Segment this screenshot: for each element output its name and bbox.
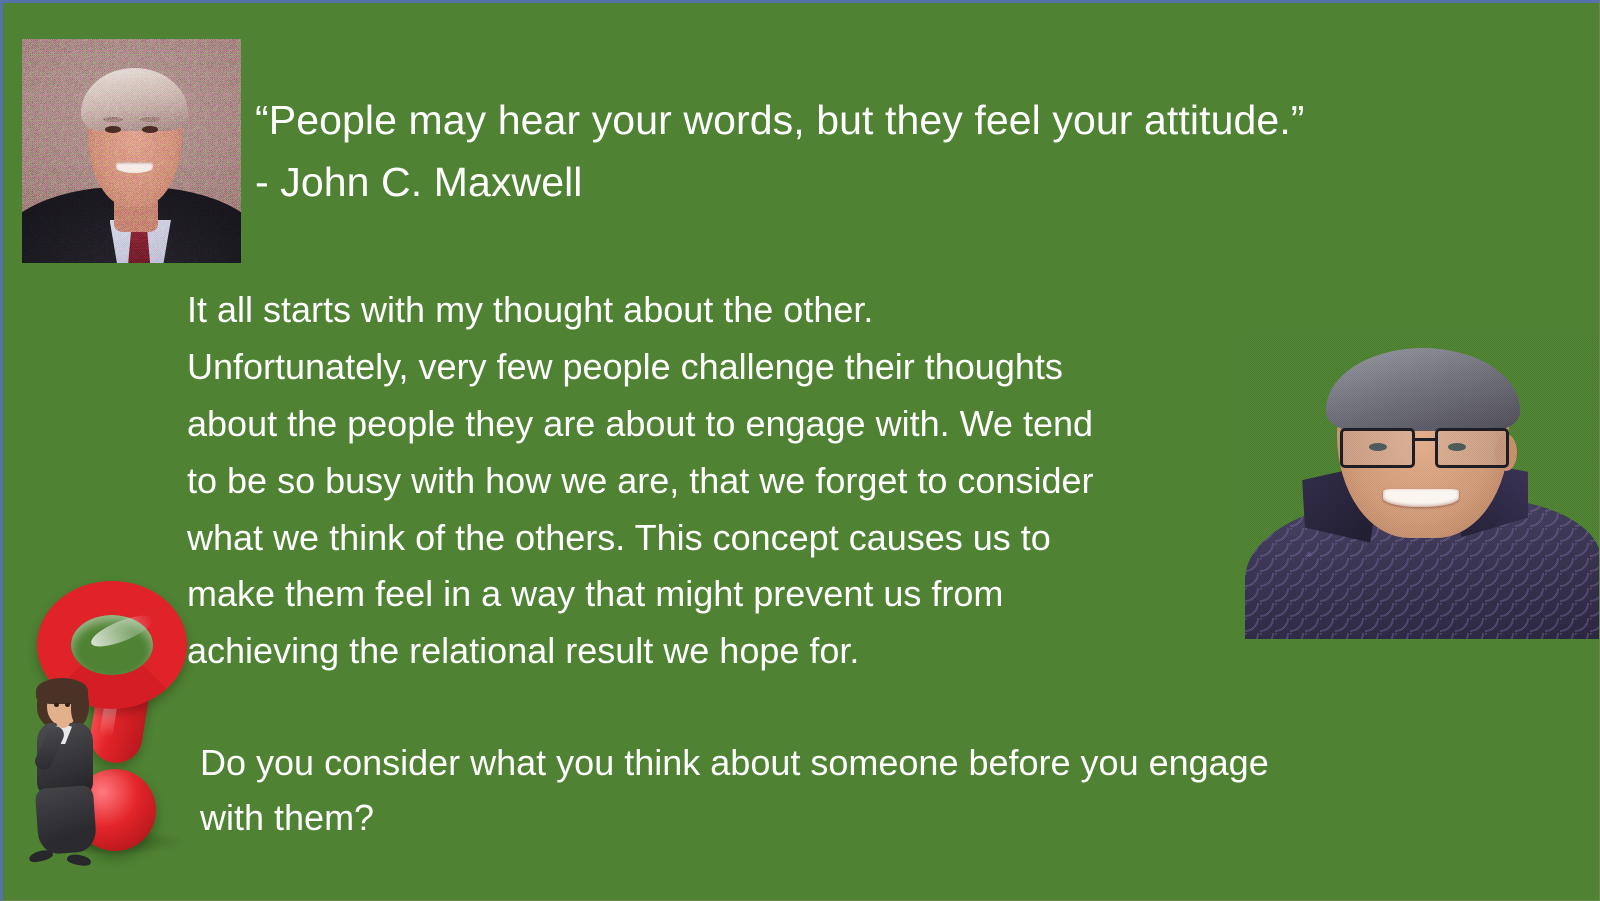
closing-question-block: Do you consider what you think about som…	[200, 736, 1500, 845]
body-text-line-2: Unfortunately, very few people challenge…	[187, 339, 1267, 396]
body-text-line-5: what we think of the others. This concep…	[187, 510, 1267, 567]
woman-shoe-left	[28, 848, 54, 864]
thinking-woman-figure	[23, 679, 119, 867]
quote-text-line-1: “People may hear your words, but they fe…	[255, 89, 1535, 151]
woman-shoe-right	[66, 853, 91, 867]
question-mark-graphic	[21, 573, 201, 868]
quote-attribution-line: - John C. Maxwell	[255, 151, 1535, 213]
speaker-headshot-image	[1243, 333, 1600, 639]
body-text-line-7: achieving the relational result we hope …	[187, 623, 1267, 680]
quote-block: “People may hear your words, but they fe…	[255, 89, 1535, 214]
body-text-line-6: make them feel in a way that might preve…	[187, 566, 1267, 623]
slide-canvas: “People may hear your words, but they fe…	[0, 0, 1600, 901]
question-text-line-2: with them?	[200, 791, 1500, 846]
portrait-photo-grain	[22, 39, 241, 263]
body-text-line-1: It all starts with my thought about the …	[187, 282, 1267, 339]
body-paragraph-block: It all starts with my thought about the …	[187, 282, 1267, 680]
woman-hair-side	[71, 685, 89, 725]
question-text-line-1: Do you consider what you think about som…	[200, 736, 1500, 791]
woman-eye-left	[54, 703, 59, 707]
woman-legs	[35, 785, 97, 855]
woman-hand-on-chin	[56, 715, 70, 728]
body-text-line-4: to be so busy with how we are, that we f…	[187, 453, 1267, 510]
john-maxwell-portrait-image	[22, 39, 241, 263]
speaker-photo-grain	[1243, 333, 1600, 639]
body-text-line-3: about the people they are about to engag…	[187, 396, 1267, 453]
woman-eye-right	[65, 703, 70, 707]
